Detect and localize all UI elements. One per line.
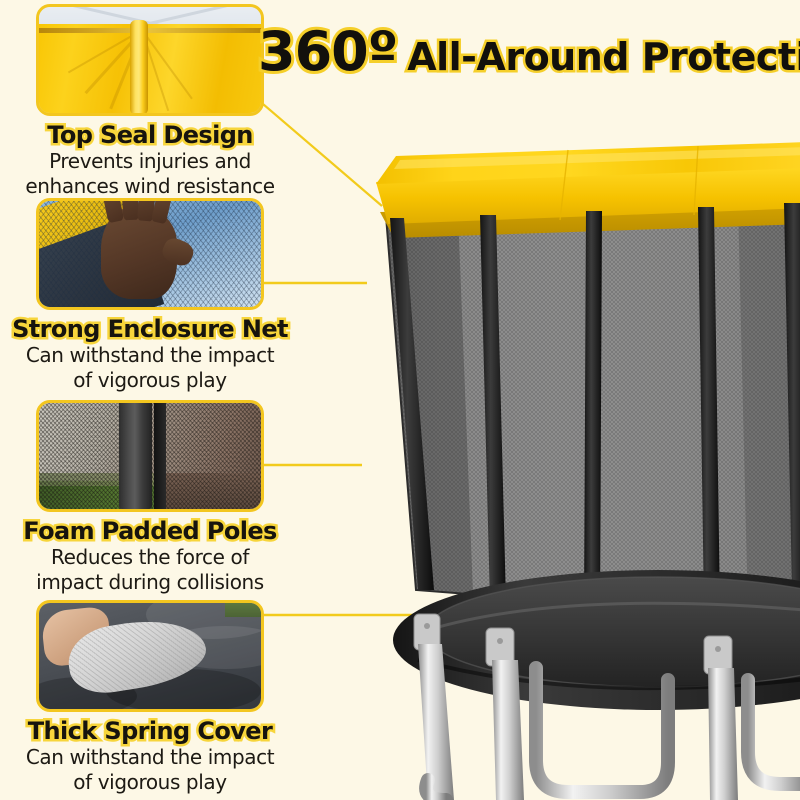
feature-title: Strong Enclosure Net	[0, 317, 300, 342]
headline-text: All-Around Protection	[407, 35, 800, 79]
feature-top-seal-design: Top Seal Design Prevents injuries and en…	[0, 4, 300, 198]
feature-desc-line1: Can withstand the impact	[0, 344, 300, 367]
feature-thumbnail-foam-pole	[36, 400, 264, 512]
feature-desc-line1: Reduces the force of	[0, 546, 300, 569]
feature-desc-line2: of vigorous play	[0, 771, 300, 794]
feature-strong-enclosure-net: Strong Enclosure Net Can withstand the i…	[0, 198, 300, 392]
feature-thumbnail-spring-cover	[36, 600, 264, 712]
feature-title: Top Seal Design	[0, 123, 300, 148]
feature-thick-spring-cover: Thick Spring Cover Can withstand the imp…	[0, 600, 300, 794]
feature-title: Thick Spring Cover	[0, 719, 300, 744]
feature-title: Foam Padded Poles	[0, 519, 300, 544]
headline-degrees: 360º	[258, 20, 397, 83]
feature-desc-line1: Prevents injuries and	[0, 150, 300, 173]
feature-thumbnail-top-seal	[36, 4, 264, 116]
feature-desc-line2: of vigorous play	[0, 369, 300, 392]
infographic-canvas: 360º All-Around Protection Top Seal Desi…	[0, 0, 800, 800]
feature-desc-line1: Can withstand the impact	[0, 746, 300, 769]
feature-foam-padded-poles: Foam Padded Poles Reduces the force of i…	[0, 400, 300, 594]
feature-thumbnail-enclosure-net	[36, 198, 264, 310]
trampoline-illustration	[268, 120, 800, 800]
feature-desc-line2: enhances wind resistance	[0, 175, 300, 198]
page-title: 360º All-Around Protection	[258, 20, 800, 83]
feature-desc-line2: impact during collisions	[0, 571, 300, 594]
